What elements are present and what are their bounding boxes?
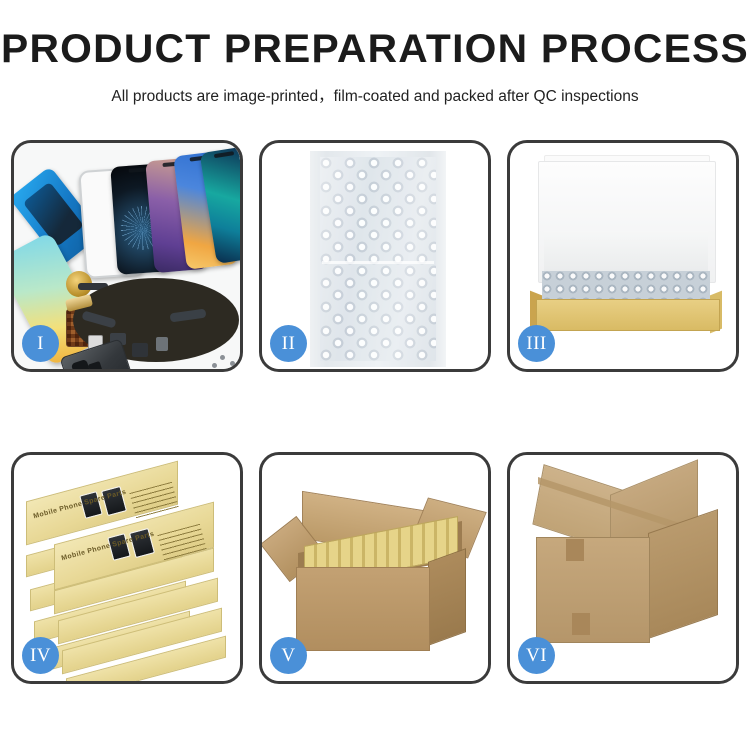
screw-icon (212, 363, 217, 368)
small-part-icon (132, 343, 148, 357)
step-badge-6: VI (518, 637, 555, 674)
step-panel-2[interactable]: II (259, 140, 491, 372)
box-liner (544, 231, 708, 275)
page-title: PRODUCT PREPARATION PROCESS (0, 27, 750, 72)
small-part-icon (156, 337, 168, 351)
step-panel-1[interactable]: I (11, 140, 243, 372)
carton-side-panel (428, 548, 466, 646)
plastic-gloss-overlay (320, 157, 436, 361)
process-steps-grid: I II III (11, 140, 739, 685)
step-badge-1: I (22, 325, 59, 362)
step-badge-4: IV (22, 637, 59, 674)
bubble-wrapped-contents-icon (542, 271, 710, 301)
box-front-wall (536, 299, 720, 331)
screw-icon (230, 361, 235, 366)
carton-front-panel (296, 567, 430, 651)
step-badge-2: II (270, 325, 307, 362)
step-badge-5: V (270, 637, 307, 674)
notch-icon (214, 151, 234, 158)
page-subtitle: All products are image-printed，film-coat… (0, 84, 750, 106)
carton-front-panel (536, 537, 650, 643)
spare-parts-group (66, 271, 240, 369)
screw-icon (220, 355, 225, 360)
page-header: PRODUCT PREPARATION PROCESS All products… (0, 0, 750, 132)
carton-tape-mark (566, 539, 584, 561)
step-panel-6[interactable]: VI (507, 452, 739, 684)
step-panel-3[interactable]: III (507, 140, 739, 372)
step-badge-3: III (518, 325, 555, 362)
carton-tape-mark (572, 613, 590, 635)
step-panel-5[interactable]: V (259, 452, 491, 684)
wrap-seam (322, 261, 434, 264)
step-panel-4[interactable]: Mobile Phone Spare Parts Mobile Phone Sp… (11, 452, 243, 684)
